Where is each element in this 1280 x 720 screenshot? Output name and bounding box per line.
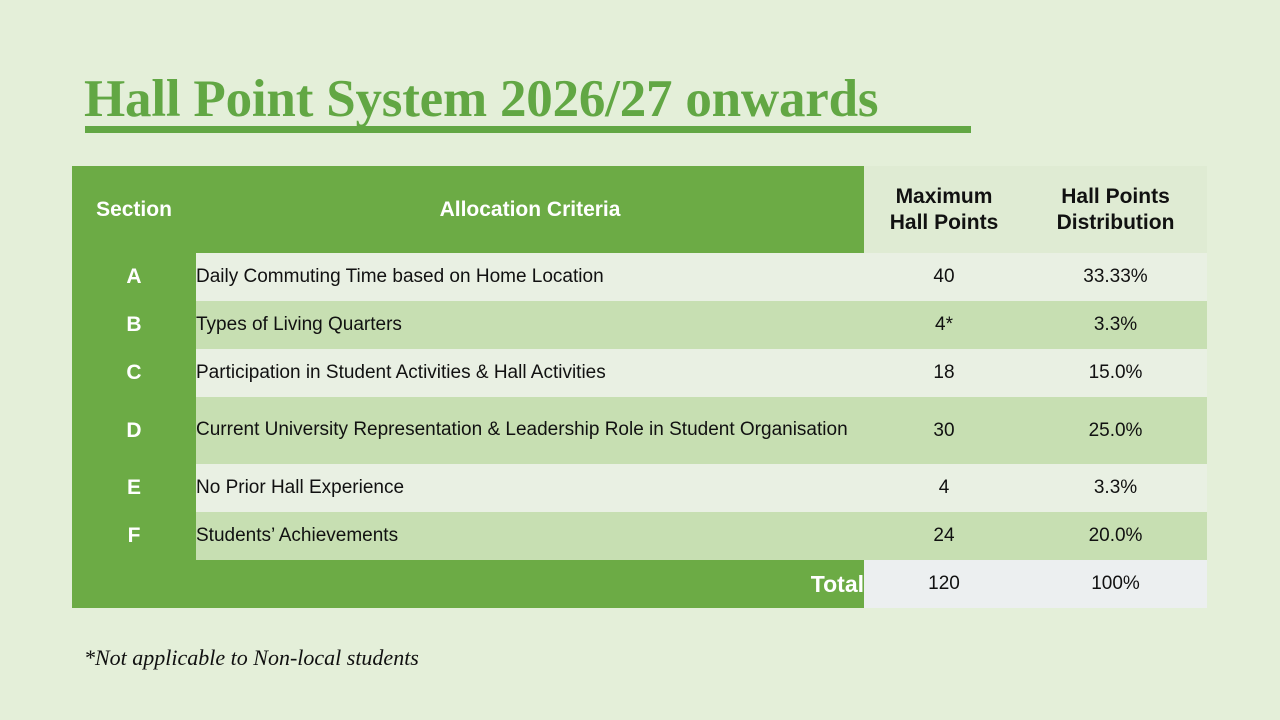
row-section-letter: F [72, 512, 196, 560]
row-criteria: No Prior Hall Experience [196, 464, 864, 512]
table-row: B Types of Living Quarters 4* 3.3% [72, 301, 1207, 349]
table-row: C Participation in Student Activities & … [72, 349, 1207, 397]
header-section: Section [72, 166, 196, 253]
row-max-points: 4* [864, 301, 1024, 349]
row-criteria: Students’ Achievements [196, 512, 864, 560]
table-row: D Current University Representation & Le… [72, 397, 1207, 464]
row-section-letter: B [72, 301, 196, 349]
row-distribution: 20.0% [1024, 512, 1207, 560]
row-distribution: 3.3% [1024, 464, 1207, 512]
row-criteria: Current University Representation & Lead… [196, 397, 864, 464]
row-criteria: Types of Living Quarters [196, 301, 864, 349]
header-hall-points-distribution-line1: Hall Points [1061, 185, 1170, 208]
header-allocation-criteria: Allocation Criteria [196, 166, 864, 253]
header-hall-points-distribution: Hall Points Distribution [1024, 166, 1207, 253]
row-criteria: Participation in Student Activities & Ha… [196, 349, 864, 397]
row-section-letter: E [72, 464, 196, 512]
hall-points-table: Section Allocation Criteria Maximum Hall… [72, 166, 1207, 608]
total-label: Total [72, 560, 864, 608]
row-distribution: 15.0% [1024, 349, 1207, 397]
row-criteria: Daily Commuting Time based on Home Locat… [196, 253, 864, 301]
row-distribution: 33.33% [1024, 253, 1207, 301]
row-max-points: 24 [864, 512, 1024, 560]
header-maximum-hall-points-line1: Maximum [896, 185, 993, 208]
row-max-points: 4 [864, 464, 1024, 512]
table-row: F Students’ Achievements 24 20.0% [72, 512, 1207, 560]
footnote: *Not applicable to Non-local students [84, 645, 419, 671]
title-underline [85, 126, 971, 133]
row-section-letter: A [72, 253, 196, 301]
row-distribution: 3.3% [1024, 301, 1207, 349]
table-row: A Daily Commuting Time based on Home Loc… [72, 253, 1207, 301]
row-max-points: 18 [864, 349, 1024, 397]
total-distribution: 100% [1024, 560, 1207, 608]
row-section-letter: C [72, 349, 196, 397]
slide-canvas: Hall Point System 2026/27 onwards Sectio… [0, 0, 1280, 720]
table-total-row: Total 120 100% [72, 560, 1207, 608]
total-max-points: 120 [864, 560, 1024, 608]
row-max-points: 30 [864, 397, 1024, 464]
table-header-row: Section Allocation Criteria Maximum Hall… [72, 166, 1207, 253]
row-distribution: 25.0% [1024, 397, 1207, 464]
row-max-points: 40 [864, 253, 1024, 301]
row-section-letter: D [72, 397, 196, 464]
header-maximum-hall-points: Maximum Hall Points [864, 166, 1024, 253]
table-row: E No Prior Hall Experience 4 3.3% [72, 464, 1207, 512]
page-title: Hall Point System 2026/27 onwards [84, 73, 878, 126]
header-hall-points-distribution-line2: Distribution [1057, 211, 1175, 234]
header-maximum-hall-points-line2: Hall Points [890, 211, 999, 234]
